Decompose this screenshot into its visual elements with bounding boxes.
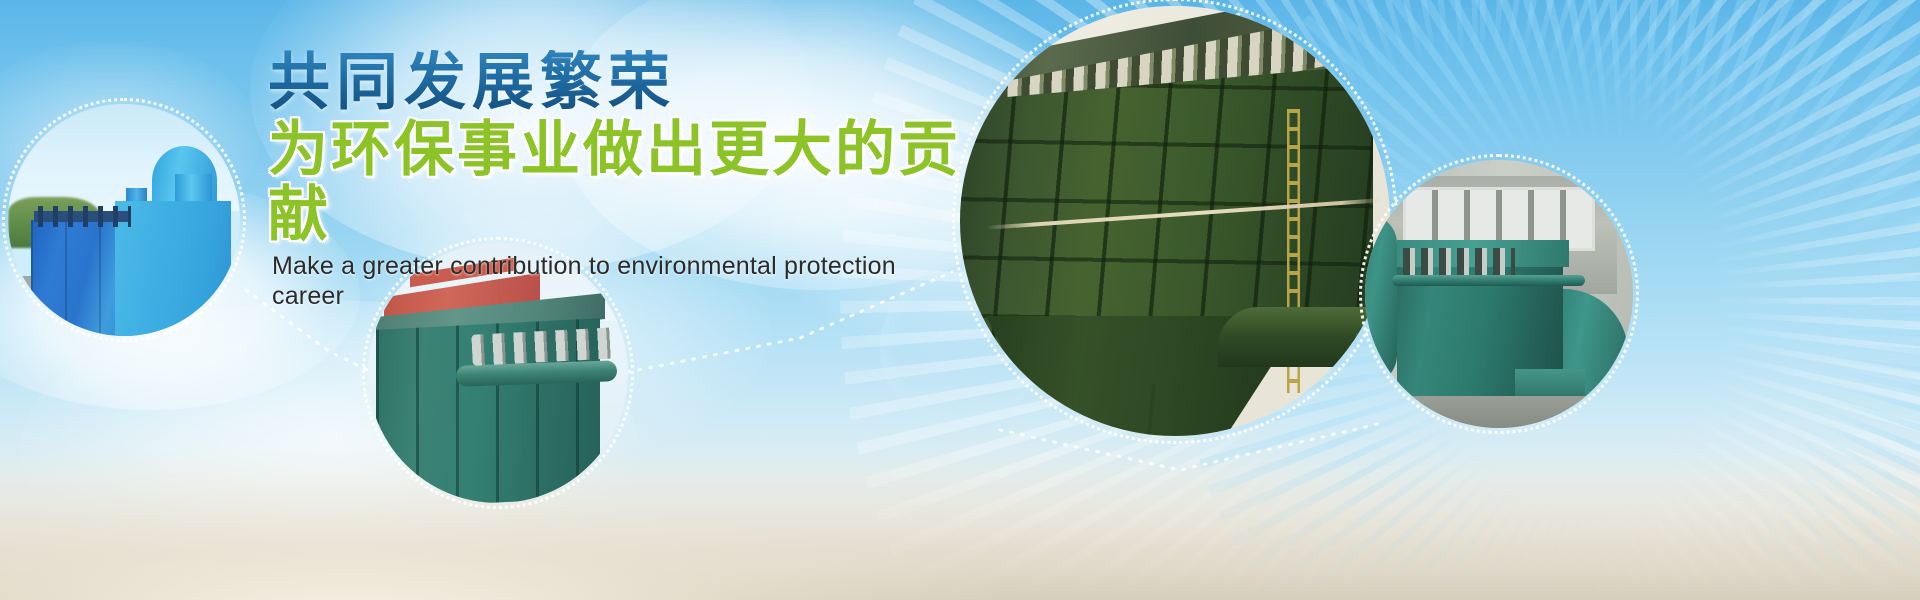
banner-headline: 共同发展繁荣 — [268, 50, 968, 116]
photo-ring-dashed — [1359, 154, 1639, 434]
photo-ring-dashed — [952, 0, 1398, 444]
hero-banner: 共同发展繁荣 为环保事业做出更大的贡献 Make a greater contr… — [0, 0, 1920, 600]
photo-ring-dashed — [2, 98, 246, 342]
banner-subheadline: 为环保事业做出更大的贡献 — [268, 118, 968, 248]
banner-subtitle-english: Make a greater contribution to environme… — [272, 251, 968, 311]
ground-glow — [0, 510, 1000, 600]
banner-text-block: 共同发展繁荣 为环保事业做出更大的贡献 Make a greater contr… — [268, 50, 968, 311]
